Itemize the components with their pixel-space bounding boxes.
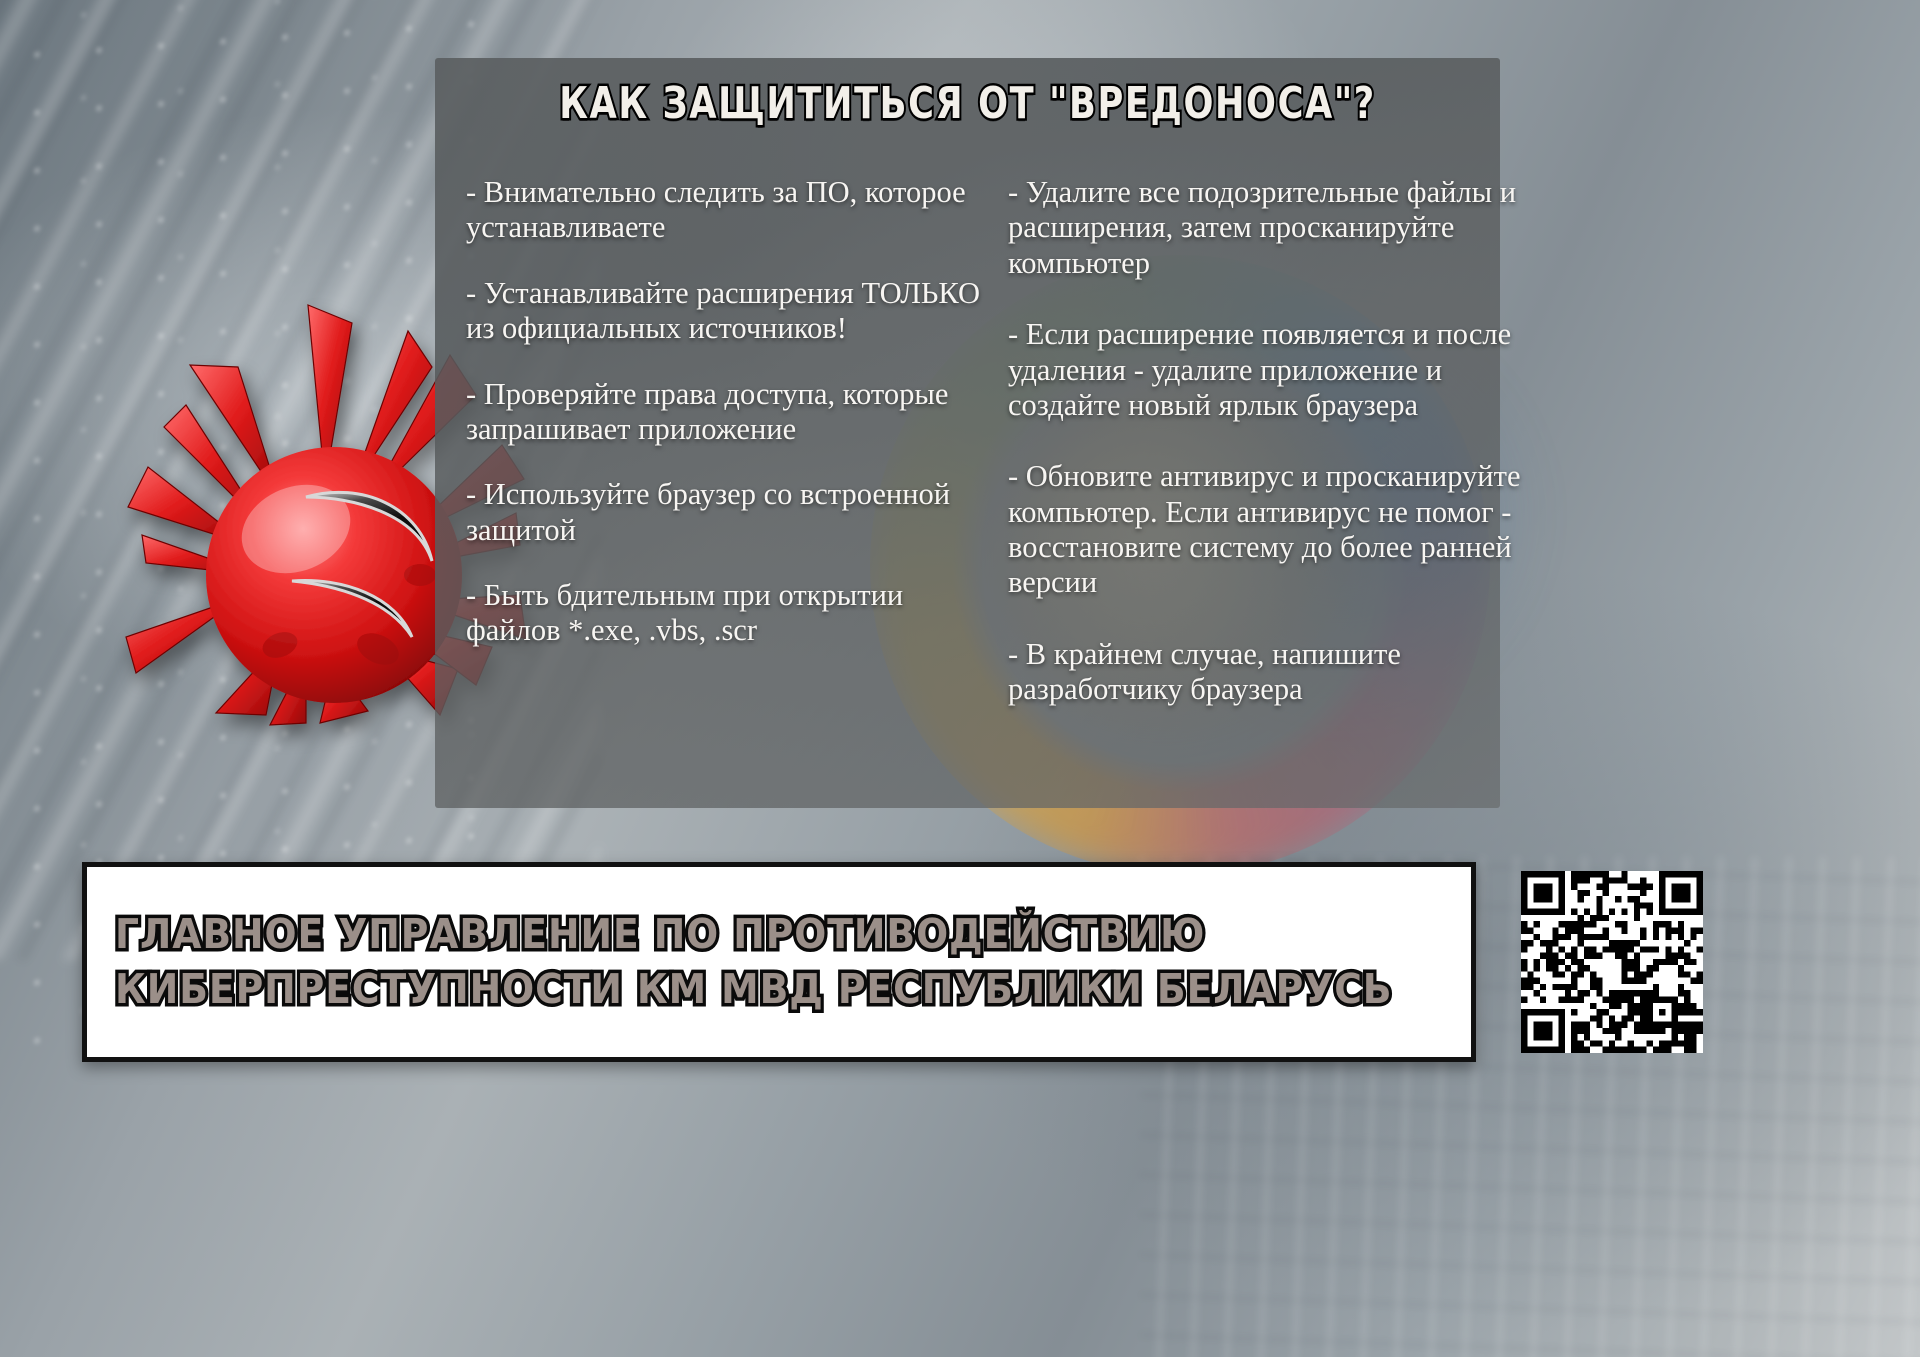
tip-item: - Удалите все подозрительные файлы и рас… [1008,175,1536,281]
tip-item: - Проверяйте права доступа, которые запр… [466,377,996,448]
tip-item: - Если расширение появляется и после уда… [1008,317,1536,423]
qr-code-icon[interactable] [1514,864,1710,1060]
tip-item: - Используйте браузер со встроенной защи… [466,477,996,548]
page-title: КАК ЗАЩИТИТЬСЯ ОТ "ВРЕДОНОСА"? [542,78,1394,129]
authority-line-2: КИБЕРПРЕСТУПНОСТИ КМ МВД РЕСПУБЛИКИ БЕЛА… [115,962,1392,1017]
authority-banner: ГЛАВНОЕ УПРАВЛЕНИЕ ПО ПРОТИВОДЕЙСТВИЮ КИ… [82,862,1476,1062]
tips-column-right: - Удалите все подозрительные файлы и рас… [1008,175,1536,744]
tip-item: - Обновите антивирус и просканируйте ком… [1008,459,1536,601]
tips-column-left: - Внимательно следить за ПО, которое уст… [466,175,996,679]
tip-item: - Внимательно следить за ПО, которое уст… [466,175,996,246]
authority-line-1: ГЛАВНОЕ УПРАВЛЕНИЕ ПО ПРОТИВОДЕЙСТВИЮ [115,907,1392,962]
authority-banner-text: ГЛАВНОЕ УПРАВЛЕНИЕ ПО ПРОТИВОДЕЙСТВИЮ КИ… [87,907,1514,1017]
tip-item: - В крайнем случае, напишите разработчик… [1008,637,1536,708]
tip-item: - Быть бдительным при открытии файлов *.… [466,578,996,649]
tip-item: - Устанавливайте расширения ТОЛЬКО из оф… [466,276,996,347]
